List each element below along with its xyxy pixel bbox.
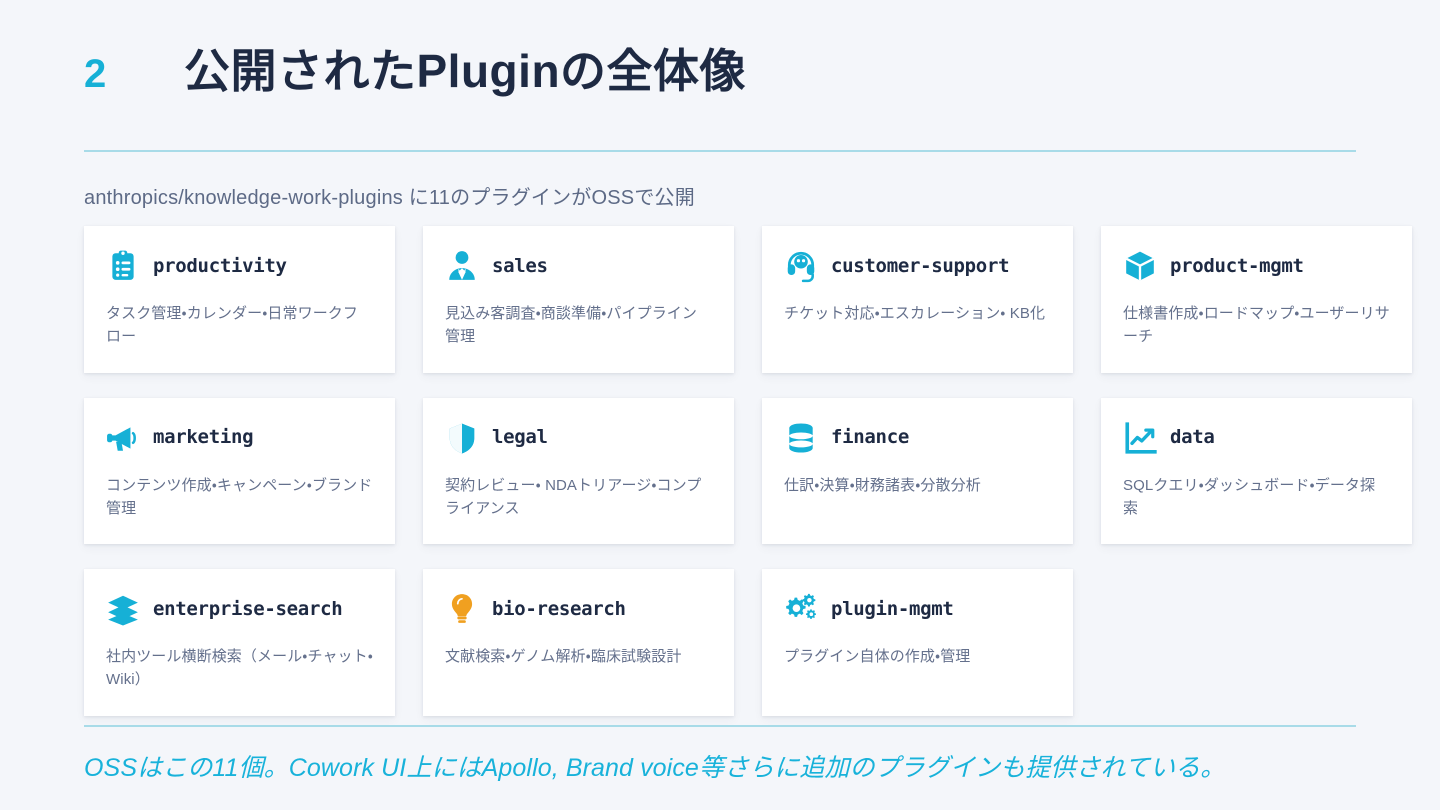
plugin-card-plugin-mgmt[interactable]: plugin-mgmtプラグイン自体の作成・管理 [762,569,1073,716]
shield-icon [445,421,479,455]
plugin-card-productivity[interactable]: productivityタスク管理・カレンダー・日常ワークフロー [84,226,395,373]
plugin-description: 仕様書作成・ロードマップ・ユーザーリサーチ [1123,302,1390,349]
plugin-card-finance[interactable]: finance仕訳・決算・財務諸表・分散分析 [762,398,1073,545]
plugin-description: SQLクエリ・ダッシュボード・データ探索 [1123,474,1390,521]
plugin-name: legal [492,428,548,447]
plugin-card-enterprise-search[interactable]: enterprise-search社内ツール横断検索（メール・チャット・Wiki… [84,569,395,716]
slide: 2 公開されたPluginの全体像 anthropics/knowledge-w… [0,0,1440,810]
plugin-description: 社内ツール横断検索（メール・チャット・Wiki） [106,645,373,692]
page-title: 公開されたPluginの全体像 [184,46,746,98]
plugin-card-sales[interactable]: sales見込み客調査・商談準備・パイプライン管理 [423,226,734,373]
cube-box-icon [1123,249,1157,283]
plugin-card-data[interactable]: dataSQLクエリ・ダッシュボード・データ探索 [1101,398,1412,545]
header-divider [84,150,1356,152]
plugin-card-bio-research[interactable]: bio-research文献検索・ゲノム解析・臨床試験設計 [423,569,734,716]
plugin-description: 契約レビュー・ NDAトリアージ・コンプライアンス [445,474,712,521]
plugin-name: data [1170,428,1215,447]
plugin-card-header: sales [445,246,712,286]
plugin-name: sales [492,257,548,276]
plugin-name: product-mgmt [1170,257,1304,276]
plugin-name: customer-support [831,257,1009,276]
plugin-card-product-mgmt[interactable]: product-mgmt仕様書作成・ロードマップ・ユーザーリサーチ [1101,226,1412,373]
plugin-card-header: productivity [106,246,373,286]
plugin-card-customer-support[interactable]: customer-supportチケット対応・エスカレーション・ KB化 [762,226,1073,373]
plugin-card-header: data [1123,418,1390,458]
plugin-card-header: enterprise-search [106,589,373,629]
plugin-description: 文献検索・ゲノム解析・臨床試験設計 [445,645,712,668]
plugin-name: marketing [153,428,253,447]
plugin-description: チケット対応・エスカレーション・ KB化 [784,302,1051,325]
plugin-card-header: finance [784,418,1051,458]
plugin-description: 見込み客調査・商談準備・パイプライン管理 [445,302,712,349]
business-person-icon [445,249,479,283]
plugin-name: plugin-mgmt [831,600,954,619]
plugin-name: productivity [153,257,287,276]
plugin-description: 仕訳・決算・財務諸表・分散分析 [784,474,1051,497]
plugin-card-header: marketing [106,418,373,458]
plugin-description: コンテンツ作成・キャンペーン・ブランド管理 [106,474,373,521]
header-row: 2 公開されたPluginの全体像 [84,46,1356,98]
footer-note: OSSはこの11個。Cowork UI上にはApollo, Brand voic… [84,748,1374,784]
plugin-card-header: customer-support [784,246,1051,286]
subtitle: anthropics/knowledge-work-plugins に11のプラ… [84,181,695,210]
footer-divider [84,725,1356,727]
plugin-card-header: plugin-mgmt [784,589,1051,629]
headset-icon [784,249,818,283]
plugin-name: finance [831,428,909,447]
layers-icon [106,592,140,626]
lightbulb-icon [445,592,479,626]
plugin-card-grid: productivityタスク管理・カレンダー・日常ワークフローsales見込み… [84,226,1356,716]
plugin-card-marketing[interactable]: marketingコンテンツ作成・キャンペーン・ブランド管理 [84,398,395,545]
line-chart-icon [1123,421,1157,455]
database-icon [784,421,818,455]
plugin-description: プラグイン自体の作成・管理 [784,645,1051,668]
plugin-card-legal[interactable]: legal契約レビュー・ NDAトリアージ・コンプライアンス [423,398,734,545]
slide-number: 2 [84,54,184,94]
slide-header: 2 公開されたPluginの全体像 [84,46,1356,98]
gears-icon [784,592,818,626]
plugin-card-header: legal [445,418,712,458]
plugin-name: enterprise-search [153,600,342,619]
plugin-card-header: bio-research [445,589,712,629]
plugin-name: bio-research [492,600,626,619]
clipboard-list-icon [106,249,140,283]
plugin-card-header: product-mgmt [1123,246,1390,286]
plugin-description: タスク管理・カレンダー・日常ワークフロー [106,302,373,349]
megaphone-icon [106,421,140,455]
